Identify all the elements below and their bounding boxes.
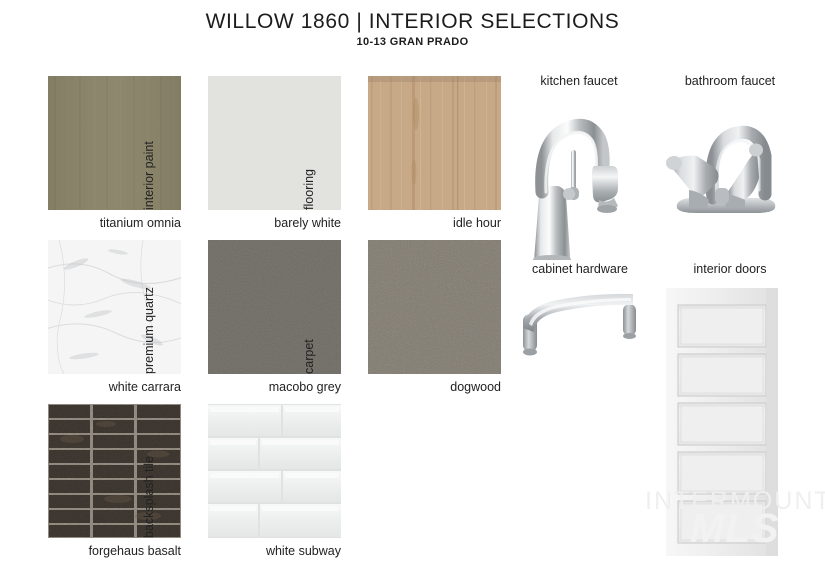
swatch-backsplash-tile — [208, 404, 341, 538]
swatch-interior-paint — [208, 76, 341, 210]
swatch-category-label: premium quartz — [140, 240, 158, 374]
swatch-name-label: dogwood — [346, 380, 501, 394]
swatch-flooring — [368, 76, 501, 210]
swatch-greyloch-cabinet — [48, 76, 181, 210]
swatch-kitchen-backsplash-tile — [48, 404, 181, 538]
swatch-category-label: carpet — [300, 240, 318, 374]
product-label: kitchen faucet — [506, 74, 652, 88]
product-bathroom-faucet: bathroom faucet — [655, 74, 805, 214]
interior-selections-board: WILLOW 1860 | INTERIOR SELECTIONS 10-13 … — [0, 0, 825, 583]
swatch-carpet — [368, 240, 501, 374]
swatch-category-label: interior paint — [140, 76, 158, 210]
bathroom-faucet-icon — [655, 96, 805, 214]
product-cabinet-hardware: cabinet hardware — [505, 262, 655, 362]
kitchen-faucet-icon — [506, 92, 652, 260]
swatch-name-label: forgehaus basalt — [26, 544, 181, 558]
page-subtitle: 10-13 GRAN PRADO — [0, 36, 825, 48]
swatch-laminate — [48, 240, 181, 374]
page-title: WILLOW 1860 | INTERIOR SELECTIONS — [0, 10, 825, 34]
product-label: bathroom faucet — [655, 74, 805, 88]
swatch-name-label: barely white — [186, 216, 341, 230]
cabinet-pull-icon — [511, 288, 651, 358]
product-label: interior doors — [655, 262, 805, 276]
swatch-name-label: idle hour — [346, 216, 501, 230]
swatch-category-label: backsplash tile — [140, 404, 158, 538]
product-label: cabinet hardware — [505, 262, 655, 276]
swatch-category-label: flooring — [300, 76, 318, 210]
swatch-name-label: macobo grey — [186, 380, 341, 394]
product-interior-doors: interior doors — [655, 262, 805, 562]
swatch-name-label: white carrara — [26, 380, 181, 394]
product-kitchen-faucet: kitchen faucet — [506, 74, 652, 260]
swatch-name-label: white subway — [186, 544, 341, 558]
swatch-premium-quartz — [208, 240, 341, 374]
five-panel-door-icon — [666, 288, 778, 556]
swatch-name-label: titanium omnia — [26, 216, 181, 230]
